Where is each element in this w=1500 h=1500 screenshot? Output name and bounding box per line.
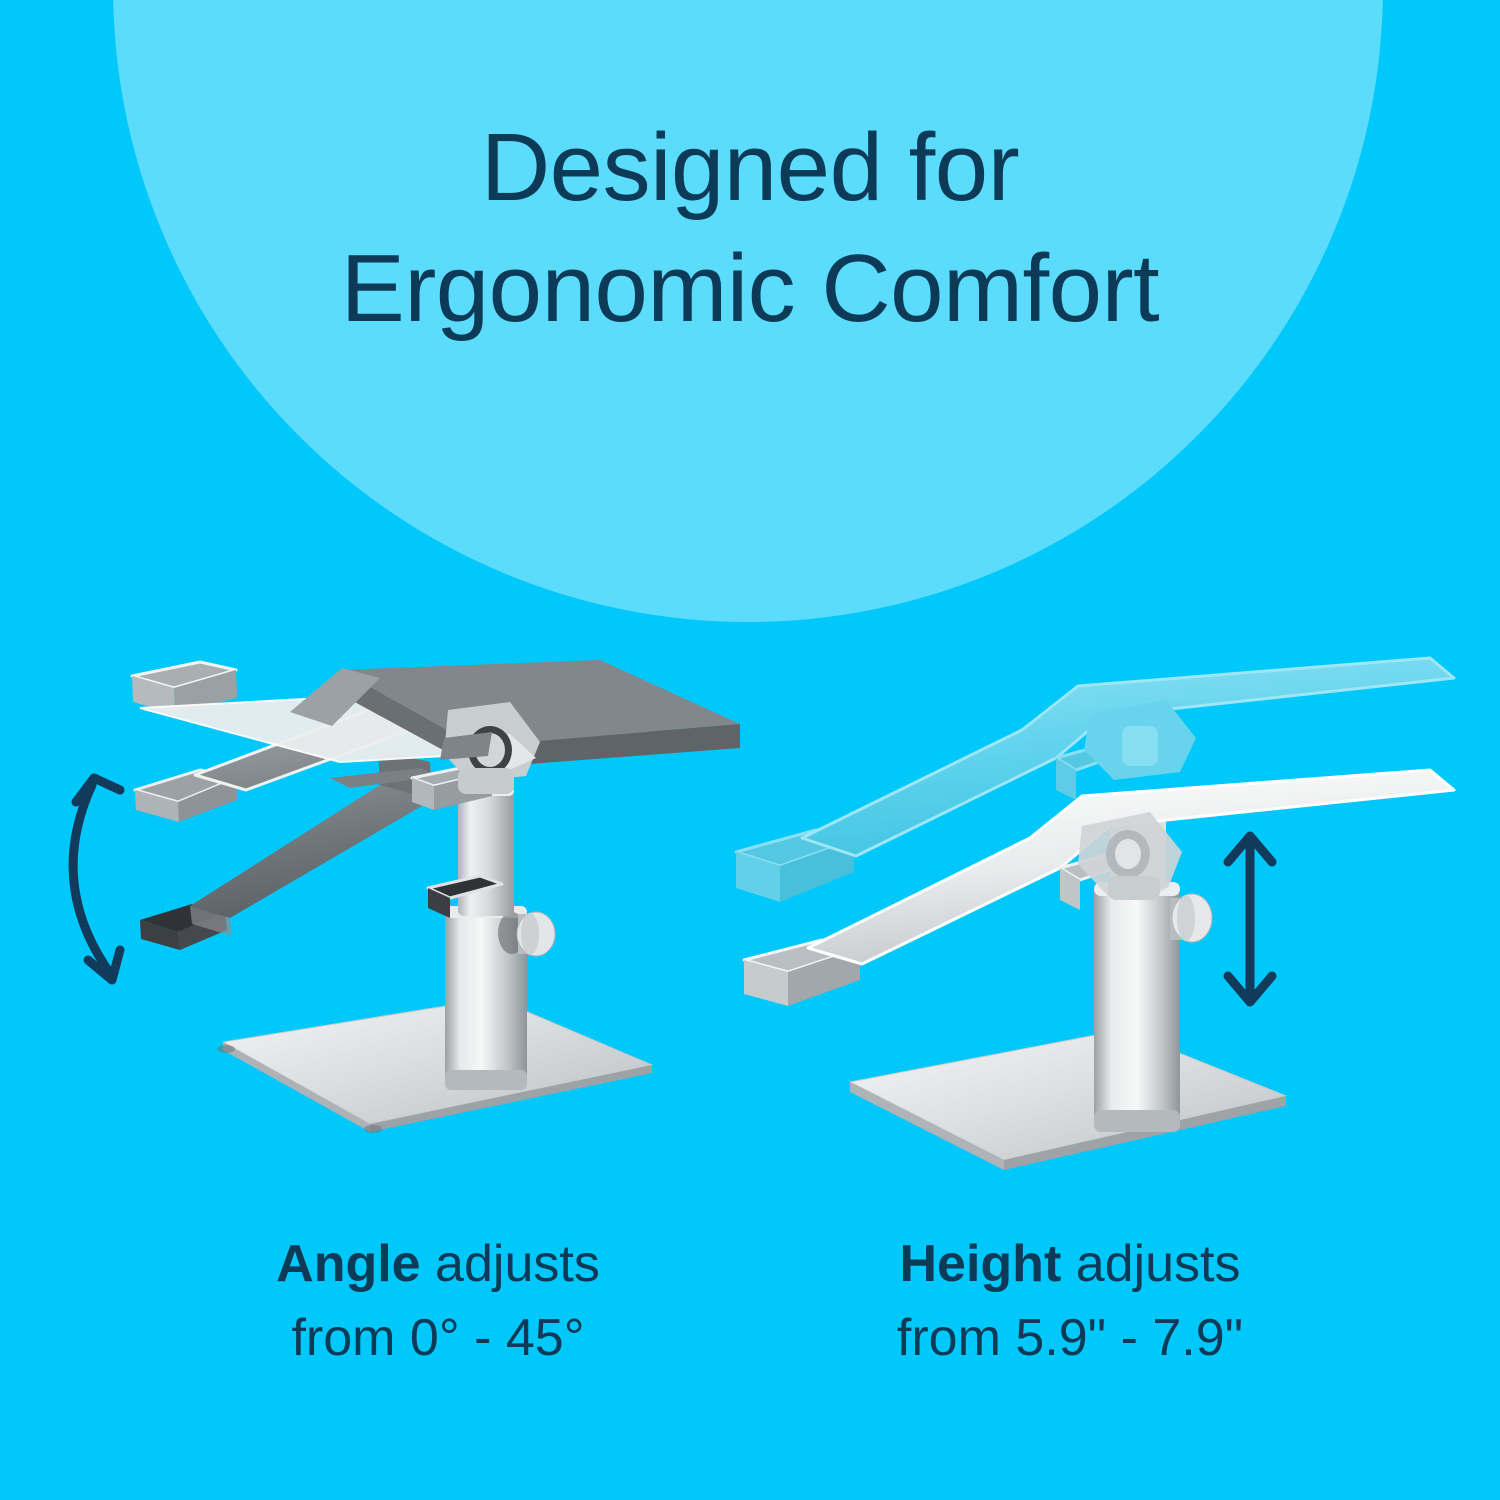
vertical-double-arrow-icon <box>1228 836 1272 1002</box>
laptop-stand-angle-illustration <box>40 650 760 1210</box>
laptop-stand-height-illustration <box>730 630 1470 1210</box>
page-title-line-2: Ergonomic Comfort <box>0 229 1500 350</box>
stand-base <box>217 998 652 1133</box>
curved-double-arrow-icon <box>73 778 120 980</box>
feature-caption-angle-line-1: Angle adjusts <box>128 1228 748 1302</box>
feature-caption-height-emphasis: Height <box>900 1235 1062 1293</box>
feature-caption-angle-emphasis: Angle <box>276 1235 420 1293</box>
promo-graphic: Designed for Ergonomic Comfort <box>0 0 1500 1500</box>
feature-caption-angle-line-2: from 0° - 45° <box>128 1302 748 1376</box>
stand-column-upper <box>458 786 514 916</box>
feature-caption-height-rest: adjusts <box>1061 1235 1240 1293</box>
height-lock-knob[interactable] <box>498 912 555 956</box>
feature-caption-angle-rest: adjusts <box>421 1235 600 1293</box>
feature-caption-angle: Angle adjusts from 0° - 45° <box>128 1228 748 1376</box>
page-title-line-1: Designed for <box>0 108 1500 229</box>
stand-column-lower <box>1094 882 1180 1132</box>
feature-caption-height-line-1: Height adjusts <box>760 1228 1380 1302</box>
feature-caption-height: Height adjusts from 5.9" - 7.9" <box>760 1228 1380 1376</box>
feature-caption-height-line-2: from 5.9" - 7.9" <box>760 1302 1380 1376</box>
height-lock-knob[interactable] <box>1170 894 1212 942</box>
tilt-hinge[interactable] <box>1078 812 1182 900</box>
page-title: Designed for Ergonomic Comfort <box>0 108 1500 350</box>
stand-base <box>850 1030 1286 1170</box>
